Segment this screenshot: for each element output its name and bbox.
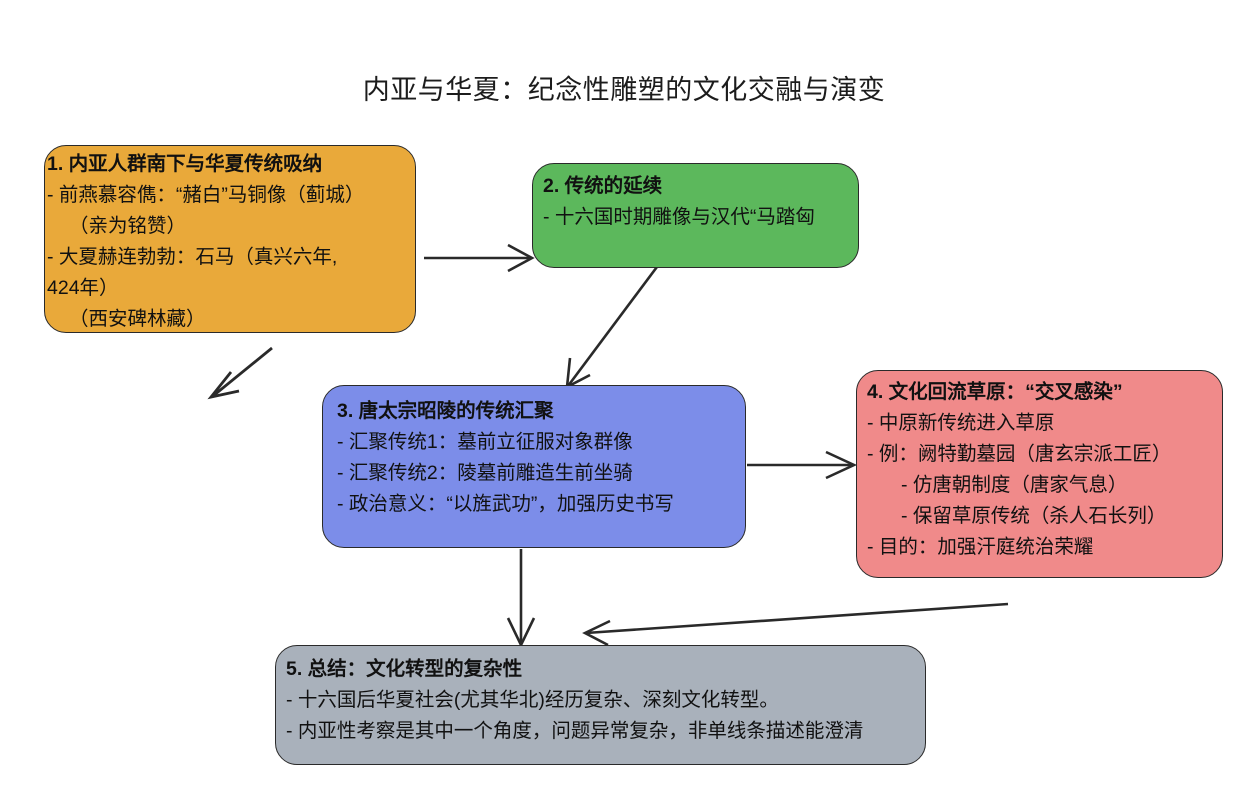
node-2-heading: 2. 传统的延续 [543,171,859,202]
node-4-line-1: - 中原新传统进入草原 [867,408,1223,439]
node-2-text: 2. 传统的延续 - 十六国时期雕像与汉代“马踏匈 [543,171,859,233]
node-4-line-5: - 目的：加强汗庭统治荣耀 [867,532,1223,563]
node-5-heading: 5. 总结：文化转型的复杂性 [286,654,926,685]
node-4-line-3: - 仿唐朝制度（唐家气息） [867,470,1223,501]
node-box-2[interactable]: 2. 传统的延续 - 十六国时期雕像与汉代“马踏匈 [532,163,859,268]
node-1-text: 1. 内亚人群南下与华夏传统吸纳 - 前燕慕容儁：“赭白”马铜像（蓟城） （亲为… [47,149,416,333]
node-5-line-2: - 内亚性考察是其中一个角度，问题异常复杂，非单线条描述能澄清 [286,716,926,747]
node-2-line-1: - 十六国时期雕像与汉代“马踏匈 [543,202,859,233]
node-box-3[interactable]: 3. 唐太宗昭陵的传统汇聚 - 汇聚传统1：墓前立征服对象群像 - 汇聚传统2：… [322,385,746,548]
node-4-line-4: - 保留草原传统（杀人石长列） [867,501,1223,532]
diagram-canvas: 内亚与华夏：纪念性雕塑的文化交融与演变 [0,0,1248,812]
node-1-line-4: 424年） [47,273,416,304]
node-4-text: 4. 文化回流草原：“交叉感染” - 中原新传统进入草原 - 例：阙特勤墓园（唐… [867,377,1223,563]
node-3-line-2: - 汇聚传统2：陵墓前雕造生前坐骑 [337,458,746,489]
node-5-line-1: - 十六国后华夏社会(尤其华北)经历复杂、深刻文化转型。 [286,685,926,716]
node-5-text: 5. 总结：文化转型的复杂性 - 十六国后华夏社会(尤其华北)经历复杂、深刻文化… [286,654,926,747]
node-1-heading: 1. 内亚人群南下与华夏传统吸纳 [47,149,416,180]
node-1-line-1: - 前燕慕容儁：“赭白”马铜像（蓟城） [47,180,416,211]
page-title: 内亚与华夏：纪念性雕塑的文化交融与演变 [0,68,1248,107]
node-3-text: 3. 唐太宗昭陵的传统汇聚 - 汇聚传统1：墓前立征服对象群像 - 汇聚传统2：… [337,396,746,520]
node-3-heading: 3. 唐太宗昭陵的传统汇聚 [337,396,746,427]
arrow-node1-down-left [211,348,272,397]
arrow-node3-to-node4 [747,452,854,478]
node-box-4[interactable]: 4. 文化回流草原：“交叉感染” - 中原新传统进入草原 - 例：阙特勤墓园（唐… [856,370,1223,578]
node-1-line-5: （西安碑林藏） [47,304,416,333]
node-4-line-2: - 例：阙特勤墓园（唐玄宗派工匠） [867,439,1223,470]
node-3-line-1: - 汇聚传统1：墓前立征服对象群像 [337,427,746,458]
arrow-node4-to-node5 [585,604,1008,645]
arrow-node1-to-node2 [424,245,532,271]
node-box-5[interactable]: 5. 总结：文化转型的复杂性 - 十六国后华夏社会(尤其华北)经历复杂、深刻文化… [275,645,926,765]
node-box-1[interactable]: 1. 内亚人群南下与华夏传统吸纳 - 前燕慕容儁：“赭白”马铜像（蓟城） （亲为… [44,145,416,333]
node-1-line-2: （亲为铭赞） [47,211,416,242]
node-4-heading: 4. 文化回流草原：“交叉感染” [867,377,1223,408]
node-3-line-3: - 政治意义：“以旌武功”，加强历史书写 [337,489,746,520]
arrow-node3-to-node5 [508,549,534,645]
node-1-line-3: - 大夏赫连勃勃：石马（真兴六年, [47,242,416,273]
